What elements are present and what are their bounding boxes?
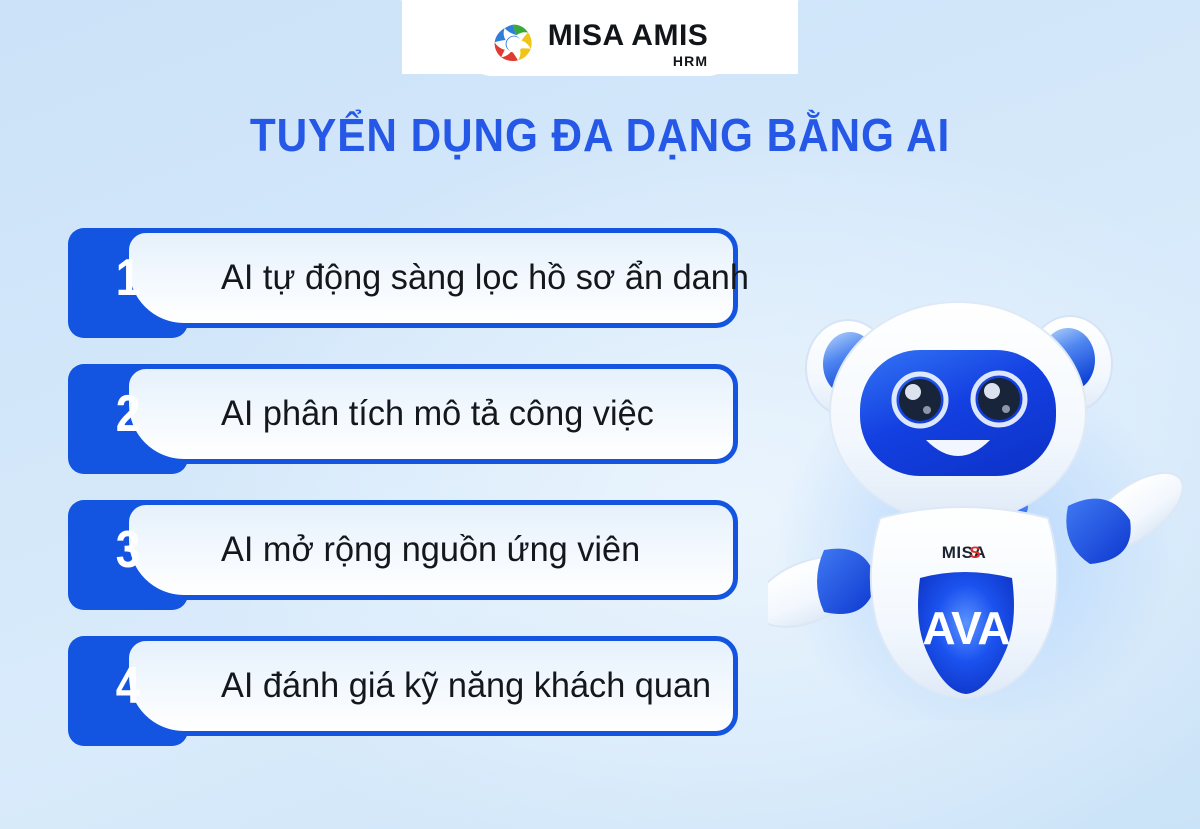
- robot-eye-left: [894, 374, 946, 426]
- robot-eye-right: [973, 373, 1025, 425]
- list-item-label: AI tự động sàng lọc hồ sơ ẩn danh: [221, 258, 749, 298]
- list-item-card: AI đánh giá kỹ năng khách quan: [124, 636, 738, 736]
- page-title: TUYỂN DỤNG ĐA DẠNG BẰNG AI: [48, 108, 1152, 162]
- list-item-card: AI mở rộng nguồn ứng viên: [124, 500, 738, 600]
- list-item-card: AI tự động sàng lọc hồ sơ ẩn danh: [124, 228, 738, 328]
- list-item[interactable]: AI phân tích mô tả công việc 2: [68, 364, 758, 500]
- brand-name: MISA AMIS: [548, 21, 709, 51]
- list-item-number: 2: [77, 364, 179, 464]
- list-item-number: 3: [77, 500, 179, 600]
- list-item[interactable]: AI mở rộng nguồn ứng viên 3: [68, 500, 758, 636]
- robot-chest-label: AVA: [922, 602, 1009, 654]
- ava-robot-mascot-icon: MISA S AVA: [768, 300, 1188, 720]
- misa-swirl-logo-icon: [492, 22, 536, 66]
- feature-list: AI tự động sàng lọc hồ sơ ẩn danh 1 AI p…: [68, 228, 758, 772]
- brand-lockup: MISA AMIS HRM: [0, 12, 1200, 76]
- list-item-number: 1: [77, 228, 179, 328]
- list-item-card: AI phân tích mô tả công việc: [124, 364, 738, 464]
- list-item-label: AI đánh giá kỹ năng khách quan: [221, 666, 711, 706]
- robot-chest-brand-accent: S: [969, 543, 980, 562]
- list-item[interactable]: AI tự động sàng lọc hồ sơ ẩn danh 1: [68, 228, 758, 364]
- list-item-number: 4: [77, 636, 179, 736]
- poster-canvas: MISA AMIS HRM TUYỂN DỤNG ĐA DẠNG BẰNG AI…: [0, 0, 1200, 829]
- brand-text-block: MISA AMIS HRM: [548, 21, 709, 68]
- list-item-label: AI phân tích mô tả công việc: [221, 394, 654, 434]
- list-item-label: AI mở rộng nguồn ứng viên: [221, 530, 640, 570]
- brand-sub: HRM: [673, 54, 708, 68]
- list-item[interactable]: AI đánh giá kỹ năng khách quan 4: [68, 636, 758, 772]
